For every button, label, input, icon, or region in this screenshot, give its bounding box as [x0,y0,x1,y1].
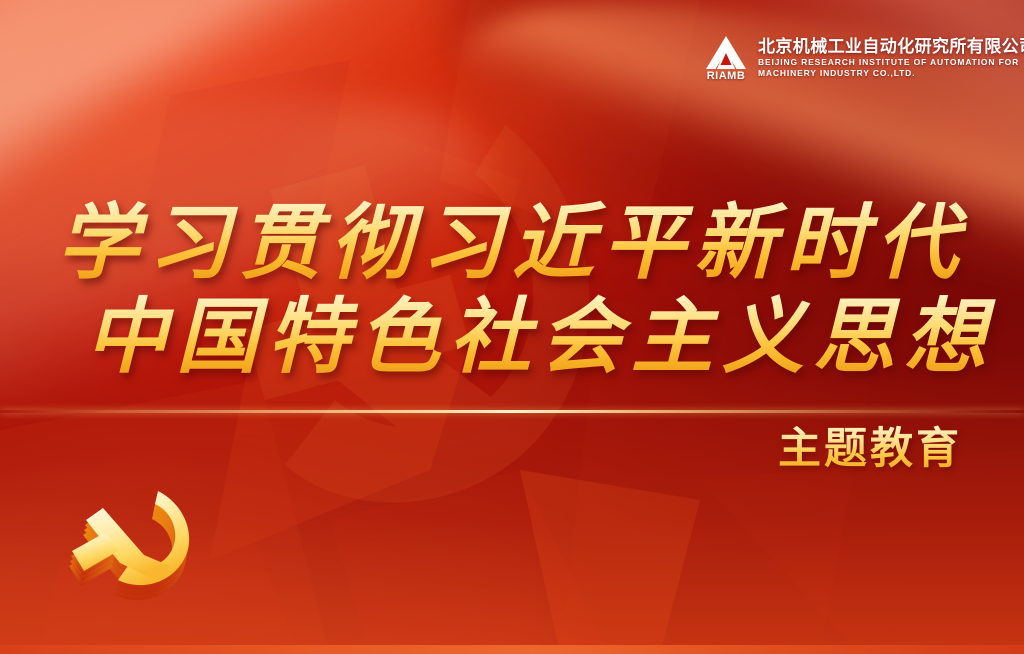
bottom-accent-strip [0,645,1024,654]
gold-divider [0,410,1024,413]
logo-abbreviation: RIAMB [707,70,746,82]
poster-canvas: RIAMB 北京机械工业自动化研究所有限公司 BEIJING RESEARCH … [0,0,1024,654]
poster-subtitle: 主题教育 [778,424,962,474]
company-name-cn: 北京机械工业自动化研究所有限公司 [758,37,1024,57]
company-name-en-line-1: BEIJING RESEARCH INSTITUTE OF AUTOMATION… [758,57,1024,68]
company-logo: RIAMB 北京机械工业自动化研究所有限公司 BEIJING RESEARCH … [703,36,1024,82]
company-name-en-line-2: MACHINERY INDUSTRY CO.,LTD. [758,68,1024,79]
company-name-block: 北京机械工业自动化研究所有限公司 BEIJING RESEARCH INSTIT… [758,36,1024,79]
hammer-and-sickle-icon [62,483,222,618]
riamb-triangle-logo-icon: RIAMB [703,36,749,82]
